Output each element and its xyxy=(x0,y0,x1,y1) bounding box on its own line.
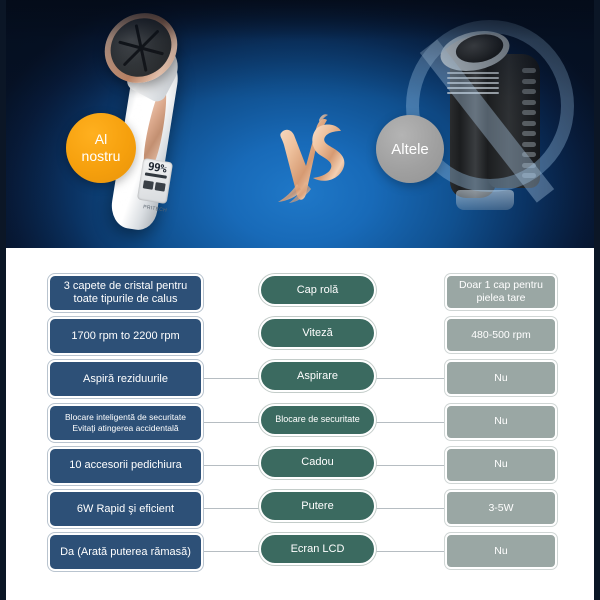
cell-other-product-label: Nu xyxy=(494,372,507,385)
connector-line-left xyxy=(203,378,259,379)
cell-other-product-label: Doar 1 cap pentru pielea tare xyxy=(451,279,551,305)
cell-feature-name-label: Cap rolă xyxy=(297,284,339,297)
cell-our-product-label: 3 capete de cristal pentru toate tipuril… xyxy=(55,280,196,306)
badge-other-product: Altele xyxy=(376,115,444,183)
connector-line-left xyxy=(203,551,259,552)
cell-our-product-label: Blocare inteligentă de securitate Evitaţ… xyxy=(55,412,196,434)
cell-our-product: 10 accesorii pedichiura xyxy=(48,447,203,485)
cell-our-product: Blocare inteligentă de securitate Evitaţ… xyxy=(48,404,203,442)
connector-line-right xyxy=(376,508,445,509)
cell-other-product: 3-5W xyxy=(445,490,557,526)
comparison-panel: 3 capete de cristal pentru toate tipuril… xyxy=(6,248,594,600)
cell-feature-name: Viteză xyxy=(259,317,376,349)
left-edge-strip xyxy=(0,0,6,600)
cell-other-product: 480-500 rpm xyxy=(445,317,557,353)
cell-our-product-label: 6W Rapid şi eficient xyxy=(77,503,174,516)
cell-feature-name-label: Viteză xyxy=(302,327,332,340)
cell-other-product-label: Nu xyxy=(494,458,507,471)
connector-line-left xyxy=(203,508,259,509)
connector-line-left xyxy=(203,422,259,423)
cell-our-product-label: Da (Arată puterea rămasă) xyxy=(60,546,191,559)
connector-line-right xyxy=(376,378,445,379)
cell-feature-name: Ecran LCD xyxy=(259,533,376,565)
cell-our-product-label: 1700 rpm to 2200 rpm xyxy=(71,330,179,343)
comparison-row: Da (Arată puterea rămasă)Ecran LCDNu xyxy=(6,533,594,571)
cell-other-product: Doar 1 cap pentru pielea tare xyxy=(445,274,557,310)
product-lcd-screen: 99% xyxy=(137,158,173,204)
cell-other-product-label: 3-5W xyxy=(488,502,513,515)
cell-feature-name-label: Ecran LCD xyxy=(291,543,345,556)
cell-our-product: Da (Arată puterea rămasă) xyxy=(48,533,203,571)
badge-our-line1: Al xyxy=(95,131,107,148)
cell-other-product-label: Nu xyxy=(494,545,507,558)
comparison-row: 3 capete de cristal pentru toate tipuril… xyxy=(6,274,594,312)
connector-line-right xyxy=(376,551,445,552)
cell-feature-name: Cadou xyxy=(259,447,376,479)
right-edge-strip xyxy=(594,0,600,600)
lcd-buttons xyxy=(141,180,168,192)
cell-feature-name: Cap rolă xyxy=(259,274,376,306)
cell-other-product: Nu xyxy=(445,360,557,396)
comparison-row: 6W Rapid şi eficientPutere3-5W xyxy=(6,490,594,528)
cell-other-product-label: 480-500 rpm xyxy=(471,329,531,342)
cell-feature-name-label: Aspirare xyxy=(297,370,338,383)
other-product-base xyxy=(456,190,514,210)
comparison-row: Aspiră reziduurileAspirareNu xyxy=(6,360,594,398)
cell-other-product: Nu xyxy=(445,447,557,483)
comparison-row: Blocare inteligentă de securitate Evitaţ… xyxy=(6,404,594,442)
cell-our-product: 6W Rapid şi eficient xyxy=(48,490,203,528)
cell-feature-name-label: Cadou xyxy=(301,456,333,469)
connector-line-right xyxy=(376,465,445,466)
cell-our-product: Aspiră reziduurile xyxy=(48,360,203,398)
connector-line-left xyxy=(203,465,259,466)
cell-feature-name-label: Blocare de securitate xyxy=(275,413,360,426)
head-spoke xyxy=(123,46,142,66)
badge-our-line2: nostru xyxy=(82,148,121,165)
comparison-row: 10 accesorii pedichiuraCadouNu xyxy=(6,447,594,485)
comparison-row: 1700 rpm to 2200 rpmViteză480-500 rpm xyxy=(6,317,594,355)
cell-our-product: 3 capete de cristal pentru toate tipuril… xyxy=(48,274,203,312)
cell-other-product: Nu xyxy=(445,533,557,569)
cell-feature-name-label: Putere xyxy=(301,500,333,513)
cell-other-product-label: Nu xyxy=(494,415,507,428)
vs-logo-icon xyxy=(275,112,353,208)
cell-our-product: 1700 rpm to 2200 rpm xyxy=(48,317,203,355)
cell-feature-name: Blocare de securitate xyxy=(259,404,376,436)
hero-banner: 99% PRITECH Al nostru xyxy=(0,0,600,248)
cell-feature-name: Putere xyxy=(259,490,376,522)
comparison-infographic: 99% PRITECH Al nostru xyxy=(0,0,600,600)
badge-our-product: Al nostru xyxy=(66,113,136,183)
head-spoke xyxy=(140,29,159,49)
connector-line-right xyxy=(376,422,445,423)
cell-other-product: Nu xyxy=(445,404,557,440)
badge-other-label: Altele xyxy=(391,141,429,158)
cell-feature-name: Aspirare xyxy=(259,360,376,392)
cell-our-product-label: 10 accesorii pedichiura xyxy=(69,459,182,472)
cell-our-product-label: Aspiră reziduurile xyxy=(83,373,168,386)
